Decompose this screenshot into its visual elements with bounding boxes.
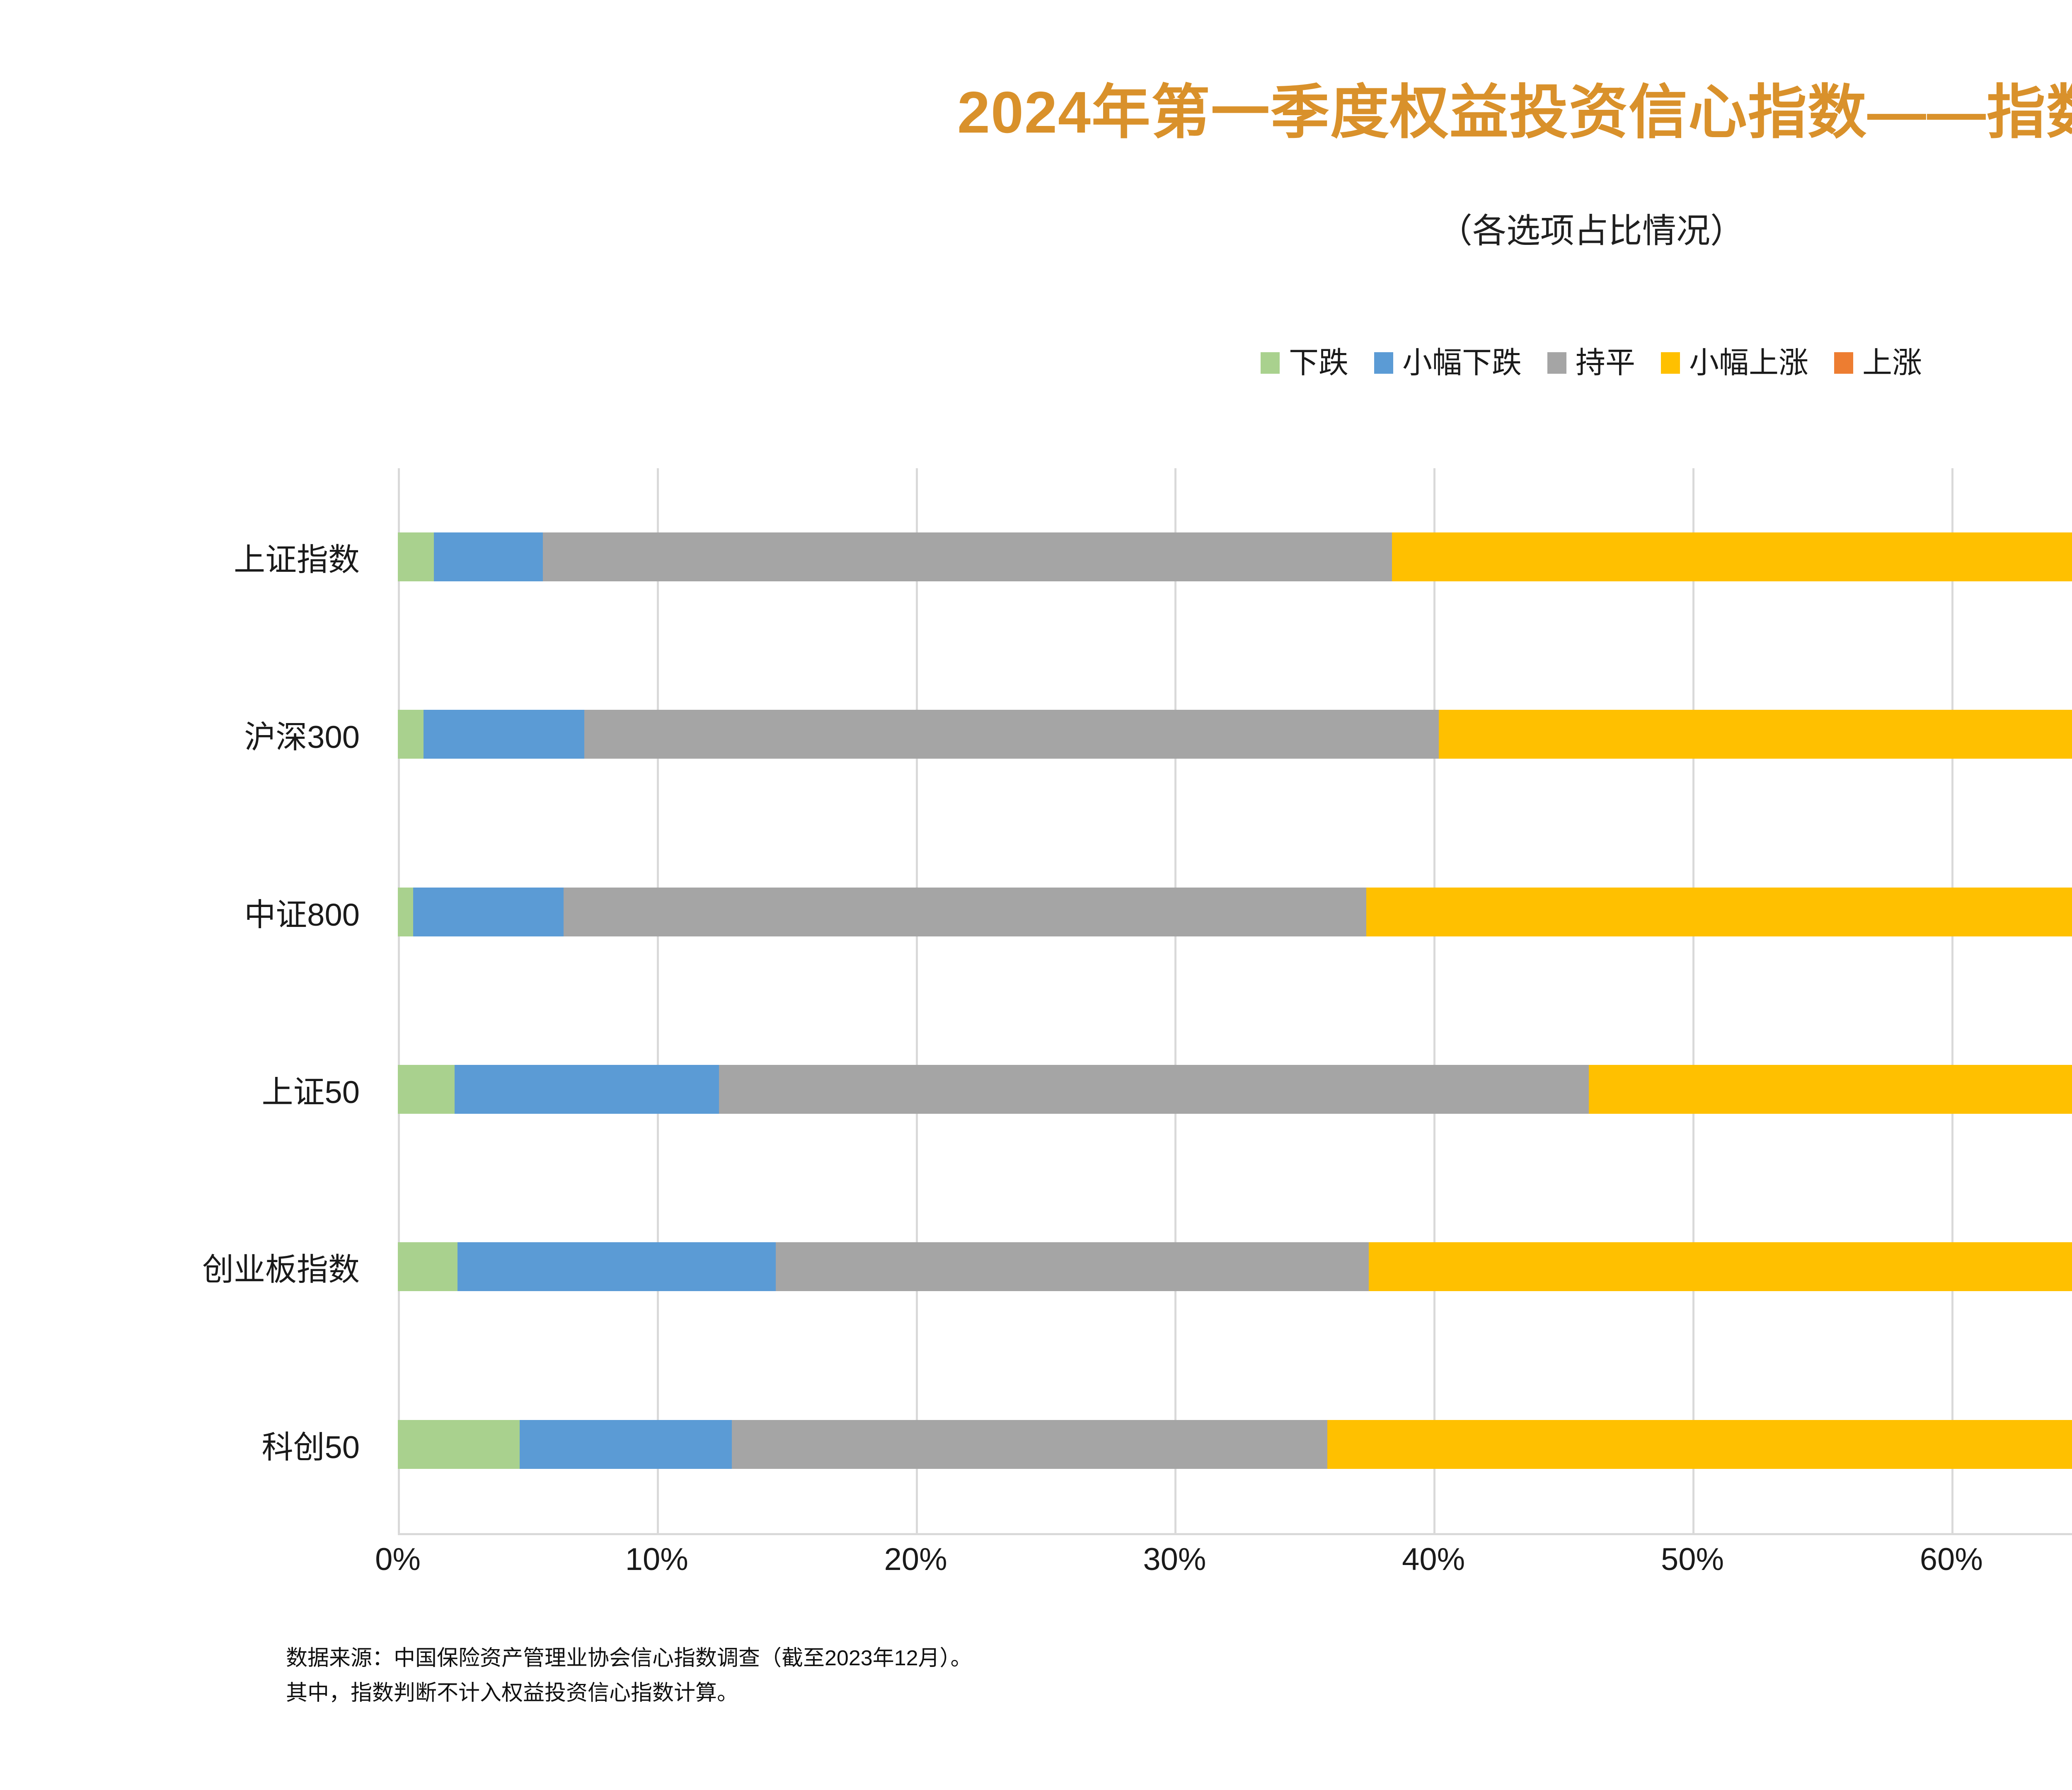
x-axis-tick-label: 60% xyxy=(1920,1541,1983,1577)
bar-row xyxy=(398,468,2072,646)
bar-segment[interactable] xyxy=(434,532,542,581)
legend-item[interactable]: 下跌 xyxy=(1261,348,1348,378)
bar-segment[interactable] xyxy=(520,1420,732,1469)
bar-row xyxy=(398,646,2072,823)
bar-segment[interactable] xyxy=(398,888,413,936)
bar-segment[interactable] xyxy=(398,532,434,581)
bar-segment[interactable] xyxy=(424,710,584,759)
bar-segment[interactable] xyxy=(1589,1065,2072,1114)
x-axis-tick-label: 20% xyxy=(884,1541,947,1577)
bar-rows xyxy=(398,468,2072,1533)
bar-segment[interactable] xyxy=(564,888,1366,936)
footnote-line: 其中，指数判断不计入权益投资信心指数计算。 xyxy=(286,1676,972,1710)
legend-label: 小幅下跌 xyxy=(1402,348,1522,378)
legend-swatch-5 xyxy=(1834,352,1853,374)
bar-segment[interactable] xyxy=(398,1065,455,1114)
legend-label: 小幅上涨 xyxy=(1689,348,1808,378)
y-axis-label: 创业板指数 xyxy=(0,1178,381,1355)
x-axis-tick-label: 30% xyxy=(1143,1541,1206,1577)
y-axis-label: 上证指数 xyxy=(0,468,381,646)
bar-segment[interactable] xyxy=(1392,532,2072,581)
legend-swatch-3 xyxy=(1547,352,1566,374)
bar-row xyxy=(398,1001,2072,1178)
stacked-bar xyxy=(398,1065,2072,1114)
bar-segment[interactable] xyxy=(776,1242,1369,1291)
chart-container: 2024年第一季度权益投资信心指数——指数判断 （各选项占比情况） 下跌小幅下跌… xyxy=(0,0,2072,1790)
x-axis-tick-label: 10% xyxy=(625,1541,688,1577)
legend-label: 上涨 xyxy=(1862,348,1922,378)
footnote-line: 数据来源：中国保险资产管理业协会信心指数调查（截至2023年12月）。 xyxy=(286,1641,972,1676)
bar-segment[interactable] xyxy=(398,710,424,759)
x-axis-tick-label: 0% xyxy=(375,1541,421,1577)
legend-swatch-4 xyxy=(1661,352,1680,374)
y-axis-label: 科创50 xyxy=(0,1356,381,1533)
stacked-bar xyxy=(398,888,2072,936)
stacked-bar xyxy=(398,532,2072,581)
bar-segment[interactable] xyxy=(584,710,1439,759)
bar-segment[interactable] xyxy=(1369,1242,2072,1291)
y-axis-label: 沪深300 xyxy=(0,646,381,823)
legend-item[interactable]: 小幅下跌 xyxy=(1374,348,1522,378)
x-axis-baseline xyxy=(398,1533,2072,1535)
legend-item[interactable]: 持平 xyxy=(1547,348,1635,378)
chart-legend: 下跌小幅下跌持平小幅上涨上涨 xyxy=(0,348,2072,378)
bar-segment[interactable] xyxy=(398,1242,457,1291)
legend-item[interactable]: 上涨 xyxy=(1834,348,1922,378)
bar-segment[interactable] xyxy=(457,1242,776,1291)
bar-segment[interactable] xyxy=(1327,1420,2072,1469)
chart-footnotes: 数据来源：中国保险资产管理业协会信心指数调查（截至2023年12月）。其中，指数… xyxy=(286,1641,972,1710)
plot-area xyxy=(398,468,2072,1533)
chart-title: 2024年第一季度权益投资信心指数——指数判断 xyxy=(0,64,2072,150)
stacked-bar xyxy=(398,1420,2072,1469)
legend-item[interactable]: 小幅上涨 xyxy=(1661,348,1808,378)
bar-segment[interactable] xyxy=(719,1065,1589,1114)
y-axis-label: 上证50 xyxy=(0,1001,381,1178)
legend-label: 持平 xyxy=(1576,348,1635,378)
bar-segment[interactable] xyxy=(413,888,563,936)
legend-label: 下跌 xyxy=(1289,348,1348,378)
x-axis-tick-label: 50% xyxy=(1661,1541,1724,1577)
bar-row xyxy=(398,1356,2072,1533)
x-axis-tick-labels: 0%10%20%30%40%50%60%70%80%90%100% xyxy=(398,1541,2072,1587)
y-axis-label: 中证800 xyxy=(0,823,381,1001)
stacked-bar xyxy=(398,710,2072,759)
legend-swatch-1 xyxy=(1261,352,1280,374)
x-axis-tick-label: 40% xyxy=(1402,1541,1465,1577)
chart-subtitle: （各选项占比情况） xyxy=(0,203,2072,252)
legend-swatch-2 xyxy=(1374,352,1393,374)
bar-segment[interactable] xyxy=(455,1065,719,1114)
bar-segment[interactable] xyxy=(543,532,1392,581)
bar-segment[interactable] xyxy=(732,1420,1327,1469)
bar-row xyxy=(398,1178,2072,1355)
y-axis-category-labels: 上证指数沪深300中证800上证50创业板指数科创50 xyxy=(0,468,381,1533)
bar-row xyxy=(398,823,2072,1001)
stacked-bar xyxy=(398,1242,2072,1291)
bar-segment[interactable] xyxy=(1366,888,2072,936)
bar-segment[interactable] xyxy=(1439,710,2072,759)
bar-segment[interactable] xyxy=(398,1420,520,1469)
